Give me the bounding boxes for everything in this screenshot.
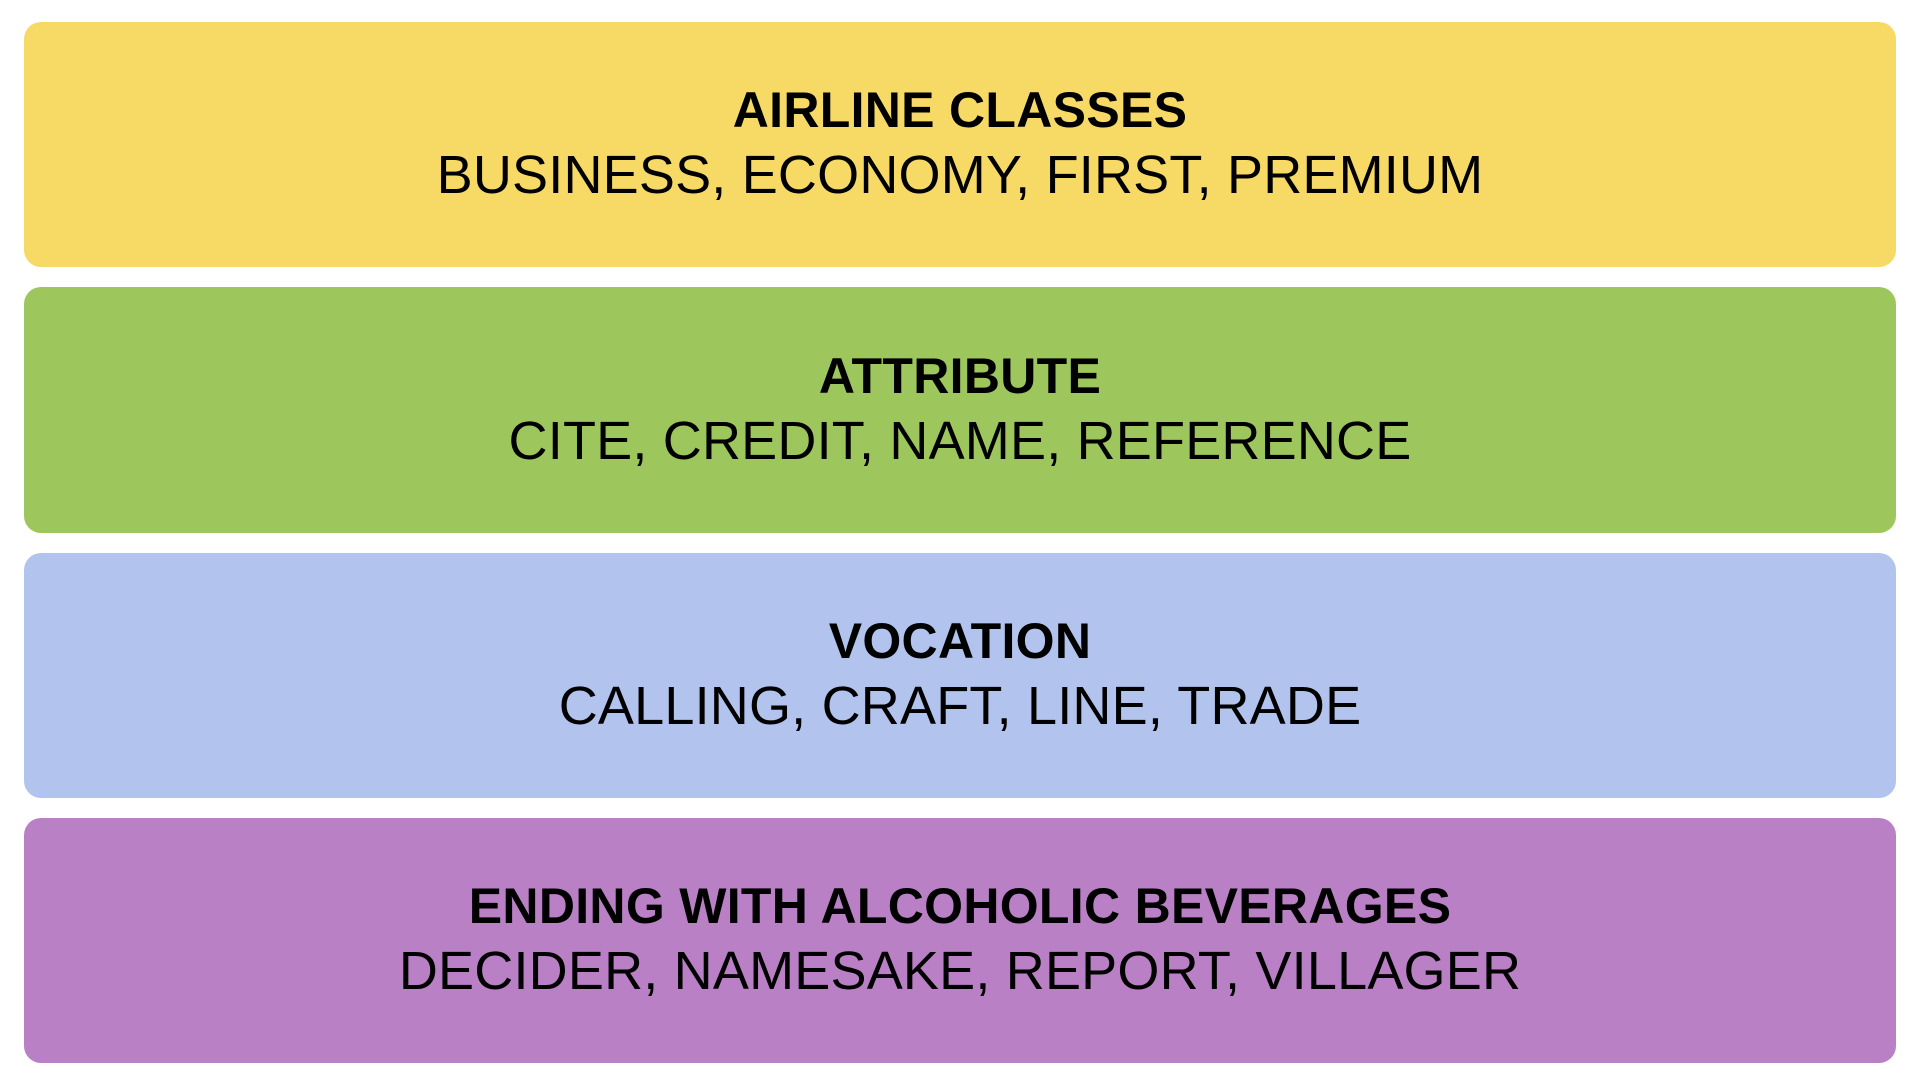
- category-members: CALLING, CRAFT, LINE, TRADE: [559, 676, 1362, 738]
- category-band-attribute[interactable]: ATTRIBUTE CITE, CREDIT, NAME, REFERENCE: [24, 287, 1896, 532]
- category-members: CITE, CREDIT, NAME, REFERENCE: [509, 411, 1412, 473]
- category-band-vocation[interactable]: VOCATION CALLING, CRAFT, LINE, TRADE: [24, 553, 1896, 798]
- category-members: BUSINESS, ECONOMY, FIRST, PREMIUM: [437, 145, 1484, 207]
- category-title: ATTRIBUTE: [819, 348, 1101, 405]
- category-band-ending-with-alcoholic-beverages[interactable]: ENDING WITH ALCOHOLIC BEVERAGES DECIDER,…: [24, 818, 1896, 1063]
- category-title: ENDING WITH ALCOHOLIC BEVERAGES: [469, 878, 1451, 935]
- category-members: DECIDER, NAMESAKE, REPORT, VILLAGER: [399, 941, 1521, 1003]
- category-band-airline-classes[interactable]: AIRLINE CLASSES BUSINESS, ECONOMY, FIRST…: [24, 22, 1896, 267]
- category-title: AIRLINE CLASSES: [733, 82, 1188, 139]
- connections-solution-board: AIRLINE CLASSES BUSINESS, ECONOMY, FIRST…: [0, 0, 1920, 1080]
- category-title: VOCATION: [829, 613, 1092, 670]
